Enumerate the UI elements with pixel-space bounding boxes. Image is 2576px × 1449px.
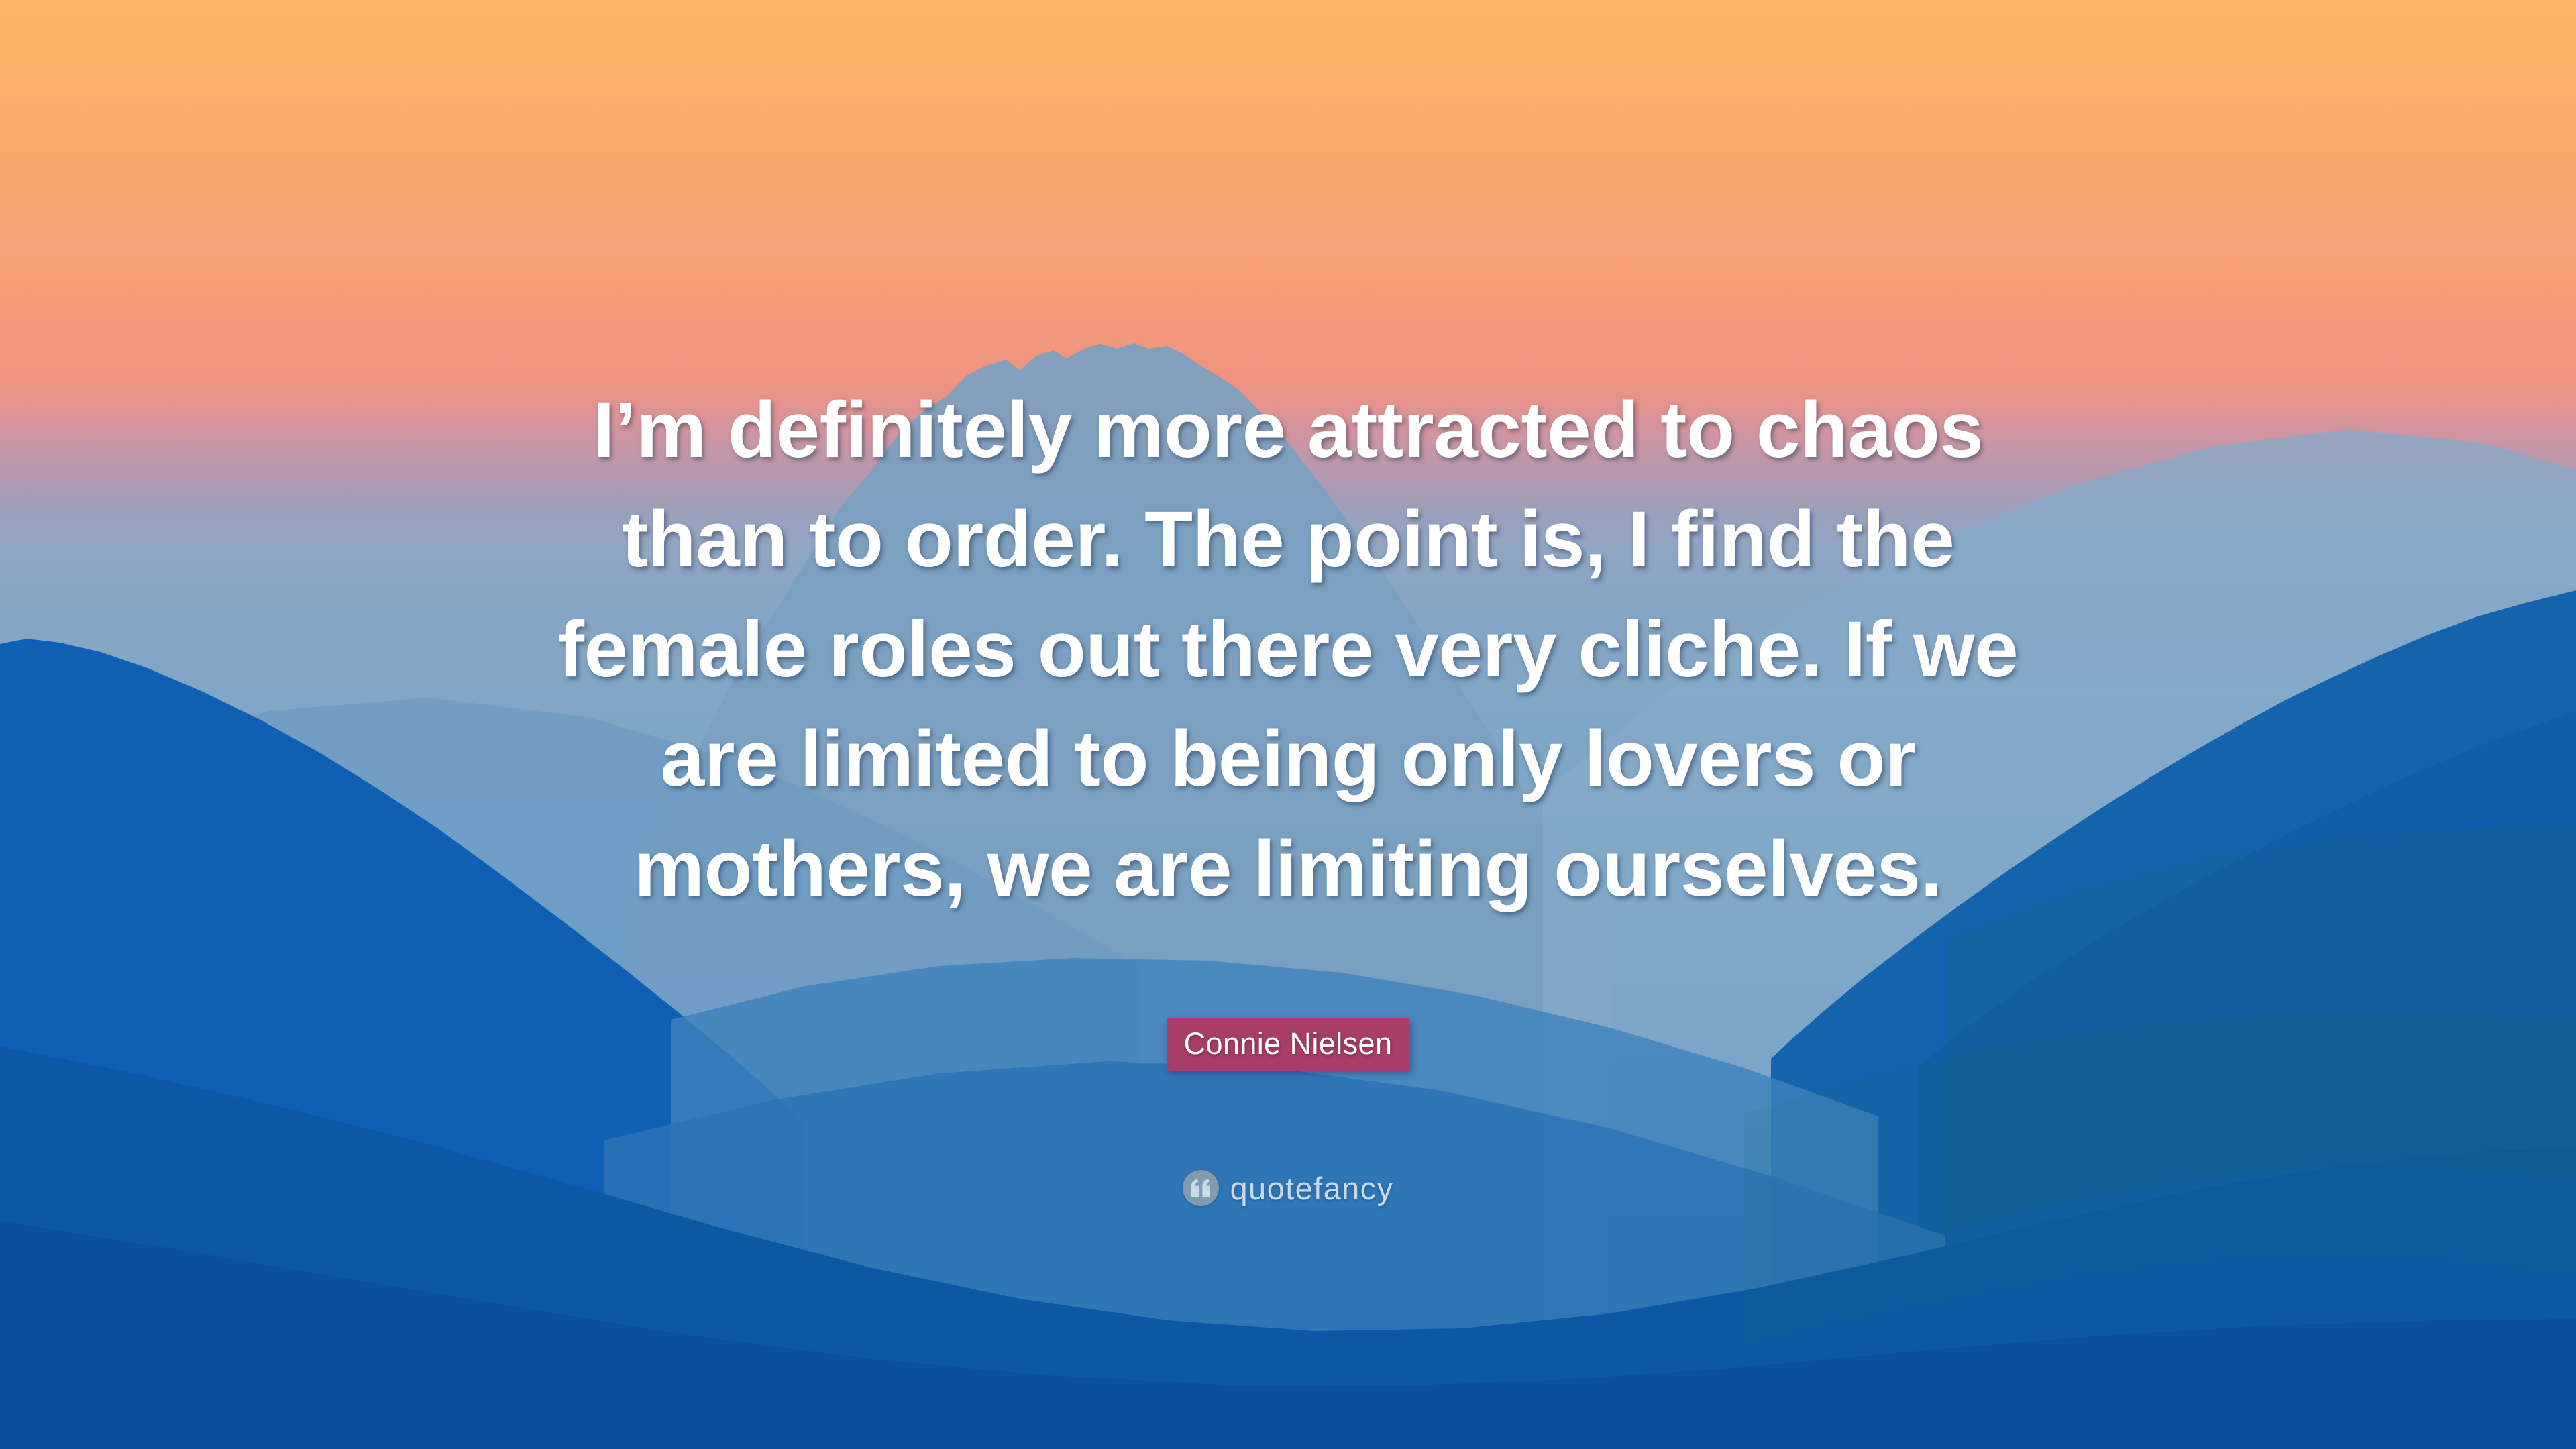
quote-line: female roles out there very cliche. If w… — [463, 595, 2113, 704]
quote-marks-icon — [1183, 1170, 1219, 1206]
quote-text-block: I’m definitely more attracted to chaos t… — [463, 376, 2113, 924]
author-attribution: Connie Nielsen — [0, 1018, 2576, 1071]
quotefancy-watermark: quotefancy — [0, 1170, 2576, 1206]
quote-image-canvas: I’m definitely more attracted to chaos t… — [0, 0, 2576, 1449]
quote-line: I’m definitely more attracted to chaos — [463, 376, 2113, 485]
quotefancy-brand-label: quotefancy — [1230, 1173, 1394, 1204]
author-name-badge: Connie Nielsen — [1167, 1018, 1410, 1071]
quote-line: mothers, we are limiting ourselves. — [463, 814, 2113, 924]
quote-line: than to order. The point is, I find the — [463, 485, 2113, 594]
quote-line: are limited to being only lovers or — [463, 704, 2113, 814]
quote-content-overlay: I’m definitely more attracted to chaos t… — [0, 0, 2576, 1449]
